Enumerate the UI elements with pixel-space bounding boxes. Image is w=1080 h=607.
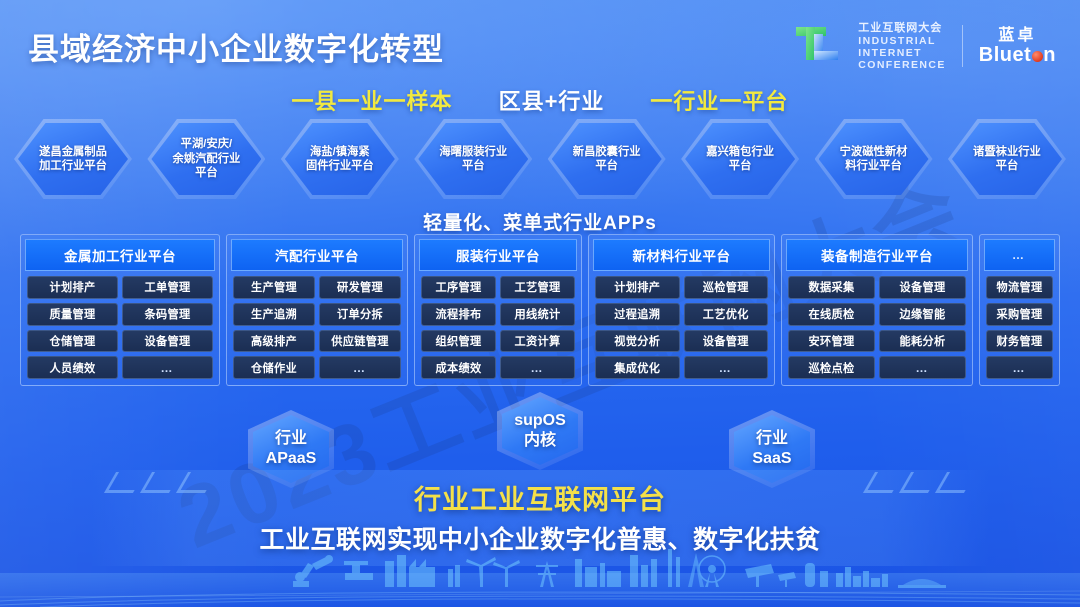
hex-label: 宁波磁性新材料行业平台 [831,145,917,174]
industry-platform-hex-row: 遂昌金属制品加工行业平台 平湖/安庆/余姚汽配行业平台 海盐/镇海紧固件行业平台… [14,118,1066,200]
conference-name-en-1: INDUSTRIAL [858,35,946,47]
brand-name-cn: 蓝卓 [998,27,1036,45]
hex-industry-4[interactable]: 海曙服装行业平台 [414,119,532,199]
card-item[interactable]: 仓储管理 [27,330,118,353]
card-item[interactable]: 集成优化 [595,356,680,379]
card-item[interactable]: 用线统计 [500,303,575,326]
brand-globe-icon [1032,51,1043,62]
card-item[interactable]: 组织管理 [421,330,496,353]
card-item[interactable]: 生产管理 [233,276,315,299]
card-title: … [984,239,1055,271]
card-item[interactable]: 巡检点检 [788,356,875,379]
card-new-materials[interactable]: 新材料行业平台 计划排产 巡检管理 过程追溯 工艺优化 视觉分析 设备管理 集成… [588,234,775,386]
card-item-grid: 计划排产 工单管理 质量管理 条码管理 仓储管理 设备管理 人员绩效 … [21,271,219,385]
card-item[interactable]: 设备管理 [879,276,966,299]
card-item[interactable]: 流程排布 [421,303,496,326]
hex-label: 行业SaaS [752,429,791,468]
apps-section-title: 轻量化、菜单式行业APPs [0,208,1080,235]
hex-supos-kernel[interactable]: supOS内核 [497,392,583,470]
hex-label: supOS内核 [514,411,566,450]
conference-name-cn: 工业互联网大会 [858,22,946,35]
card-item[interactable]: 订单分拆 [319,303,401,326]
card-item[interactable]: 生产追溯 [233,303,315,326]
card-title: 汽配行业平台 [231,239,403,271]
card-item[interactable]: 工单管理 [122,276,213,299]
card-item[interactable]: 安环管理 [788,330,875,353]
card-item-more[interactable]: … [500,356,575,379]
card-auto-parts[interactable]: 汽配行业平台 生产管理 研发管理 生产追溯 订单分拆 高级排产 供应链管理 仓储… [226,234,408,386]
card-title: 新材料行业平台 [593,239,770,271]
brand-name-en: Bluetn [979,44,1056,66]
card-item[interactable]: 工序管理 [421,276,496,299]
logo-divider [962,25,963,67]
hex-label: 新昌胶囊行业平台 [564,145,650,174]
card-item[interactable]: 计划排产 [27,276,118,299]
card-title: 服装行业平台 [419,239,577,271]
card-item-more[interactable]: … [986,356,1053,379]
page-title: 县域经济中小企业数字化转型 [28,24,444,69]
card-item-grid: 计划排产 巡检管理 过程追溯 工艺优化 视觉分析 设备管理 集成优化 … [589,271,774,385]
card-title: 装备制造行业平台 [786,239,968,271]
conference-name: 工业互联网大会 INDUSTRIAL INTERNET CONFERENCE [858,22,946,71]
card-item-grid: 物流管理 采购管理 财务管理 … [980,271,1059,385]
card-item-more[interactable]: … [122,356,213,379]
brand-logo: 蓝卓 Bluetn [979,27,1056,67]
card-item[interactable]: 工艺优化 [684,303,769,326]
conference-name-en-3: CONFERENCE [858,59,946,71]
card-item[interactable]: 在线质检 [788,303,875,326]
card-item[interactable]: 数据采集 [788,276,875,299]
card-item[interactable]: 研发管理 [319,276,401,299]
card-item[interactable]: 成本绩效 [421,356,496,379]
hex-label: 平湖/安庆/余姚汽配行业平台 [164,137,250,180]
card-item[interactable]: 条码管理 [122,303,213,326]
card-item[interactable]: 财务管理 [986,330,1053,353]
hex-label: 海曙服装行业平台 [430,145,516,174]
hex-industry-2[interactable]: 平湖/安庆/余姚汽配行业平台 [147,119,265,199]
hex-label: 海盐/镇海紧固件行业平台 [297,145,383,174]
card-item[interactable]: 人员绩效 [27,356,118,379]
brand-en-prefix: Bluet [979,44,1032,66]
card-item[interactable]: 采购管理 [986,303,1053,326]
card-item[interactable]: 边缘智能 [879,303,966,326]
card-item-grid: 工序管理 工艺管理 流程排布 用线统计 组织管理 工资计算 成本绩效 … [415,271,581,385]
card-item[interactable]: 物流管理 [986,276,1053,299]
card-apparel[interactable]: 服装行业平台 工序管理 工艺管理 流程排布 用线统计 组织管理 工资计算 成本绩… [414,234,582,386]
card-item[interactable]: 高级排产 [233,330,315,353]
card-item[interactable]: 能耗分析 [879,330,966,353]
card-item[interactable]: 供应链管理 [319,330,401,353]
hex-label: 诸暨袜业行业平台 [964,145,1050,174]
logo-group: 工业互联网大会 INDUSTRIAL INTERNET CONFERENCE 蓝… [794,22,1056,71]
footer-subtitle: 工业互联网实现中小企业数字化普惠、数字化扶贫 [0,520,1080,556]
hex-label: 遂昌金属制品加工行业平台 [30,145,116,174]
hex-industry-saas[interactable]: 行业SaaS [729,410,815,488]
footer-title: 行业工业互联网平台 [0,478,1080,517]
card-item[interactable]: 仓储作业 [233,356,315,379]
slide-canvas: 2023工业互联网大会 县域经济中小企业数字化转型 工业互联网 [0,0,1080,607]
card-item[interactable]: 视觉分析 [595,330,680,353]
card-shared-services[interactable]: … 物流管理 采购管理 财务管理 … [979,234,1060,386]
subtitle-row: 一县一业一样本 区县+行业 一行业一平台 [0,84,1080,116]
subtitle-2: 区县+行业 [499,84,605,116]
conference-name-en-2: INTERNET [858,47,946,59]
card-item[interactable]: 设备管理 [122,330,213,353]
card-item-grid: 生产管理 研发管理 生产追溯 订单分拆 高级排产 供应链管理 仓储作业 … [227,271,407,385]
card-metal-processing[interactable]: 金属加工行业平台 计划排产 工单管理 质量管理 条码管理 仓储管理 设备管理 人… [20,234,220,386]
subtitle-3: 一行业一平台 [650,84,788,116]
card-item-more[interactable]: … [319,356,401,379]
card-item[interactable]: 质量管理 [27,303,118,326]
hex-industry-5[interactable]: 新昌胶囊行业平台 [548,119,666,199]
card-item-grid: 数据采集 设备管理 在线质检 边缘智能 安环管理 能耗分析 巡检点检 … [782,271,972,385]
brand-en-suffix: n [1043,44,1056,66]
hex-industry-6[interactable]: 嘉兴箱包行业平台 [681,119,799,199]
card-equipment-manufacturing[interactable]: 装备制造行业平台 数据采集 设备管理 在线质检 边缘智能 安环管理 能耗分析 巡… [781,234,973,386]
card-title: 金属加工行业平台 [25,239,215,271]
card-item-more[interactable]: … [684,356,769,379]
hex-industry-3[interactable]: 海盐/镇海紧固件行业平台 [281,119,399,199]
ground-glow [0,573,1080,607]
platform-cards: 金属加工行业平台 计划排产 工单管理 质量管理 条码管理 仓储管理 设备管理 人… [20,234,1060,386]
hex-industry-1[interactable]: 遂昌金属制品加工行业平台 [14,119,132,199]
conference-mark-icon [794,24,842,68]
subtitle-1: 一县一业一样本 [292,84,453,116]
card-item[interactable]: 过程追溯 [595,303,680,326]
card-item[interactable]: 工资计算 [500,330,575,353]
card-item[interactable]: 巡检管理 [684,276,769,299]
hex-industry-apaas[interactable]: 行业APaaS [248,410,334,488]
hex-label: 嘉兴箱包行业平台 [697,145,783,174]
hex-industry-7[interactable]: 宁波磁性新材料行业平台 [815,119,933,199]
hex-label: 行业APaaS [266,429,317,468]
card-item[interactable]: 工艺管理 [500,276,575,299]
hex-industry-8[interactable]: 诸暨袜业行业平台 [948,119,1066,199]
card-item[interactable]: 设备管理 [684,330,769,353]
card-item-more[interactable]: … [879,356,966,379]
card-item[interactable]: 计划排产 [595,276,680,299]
